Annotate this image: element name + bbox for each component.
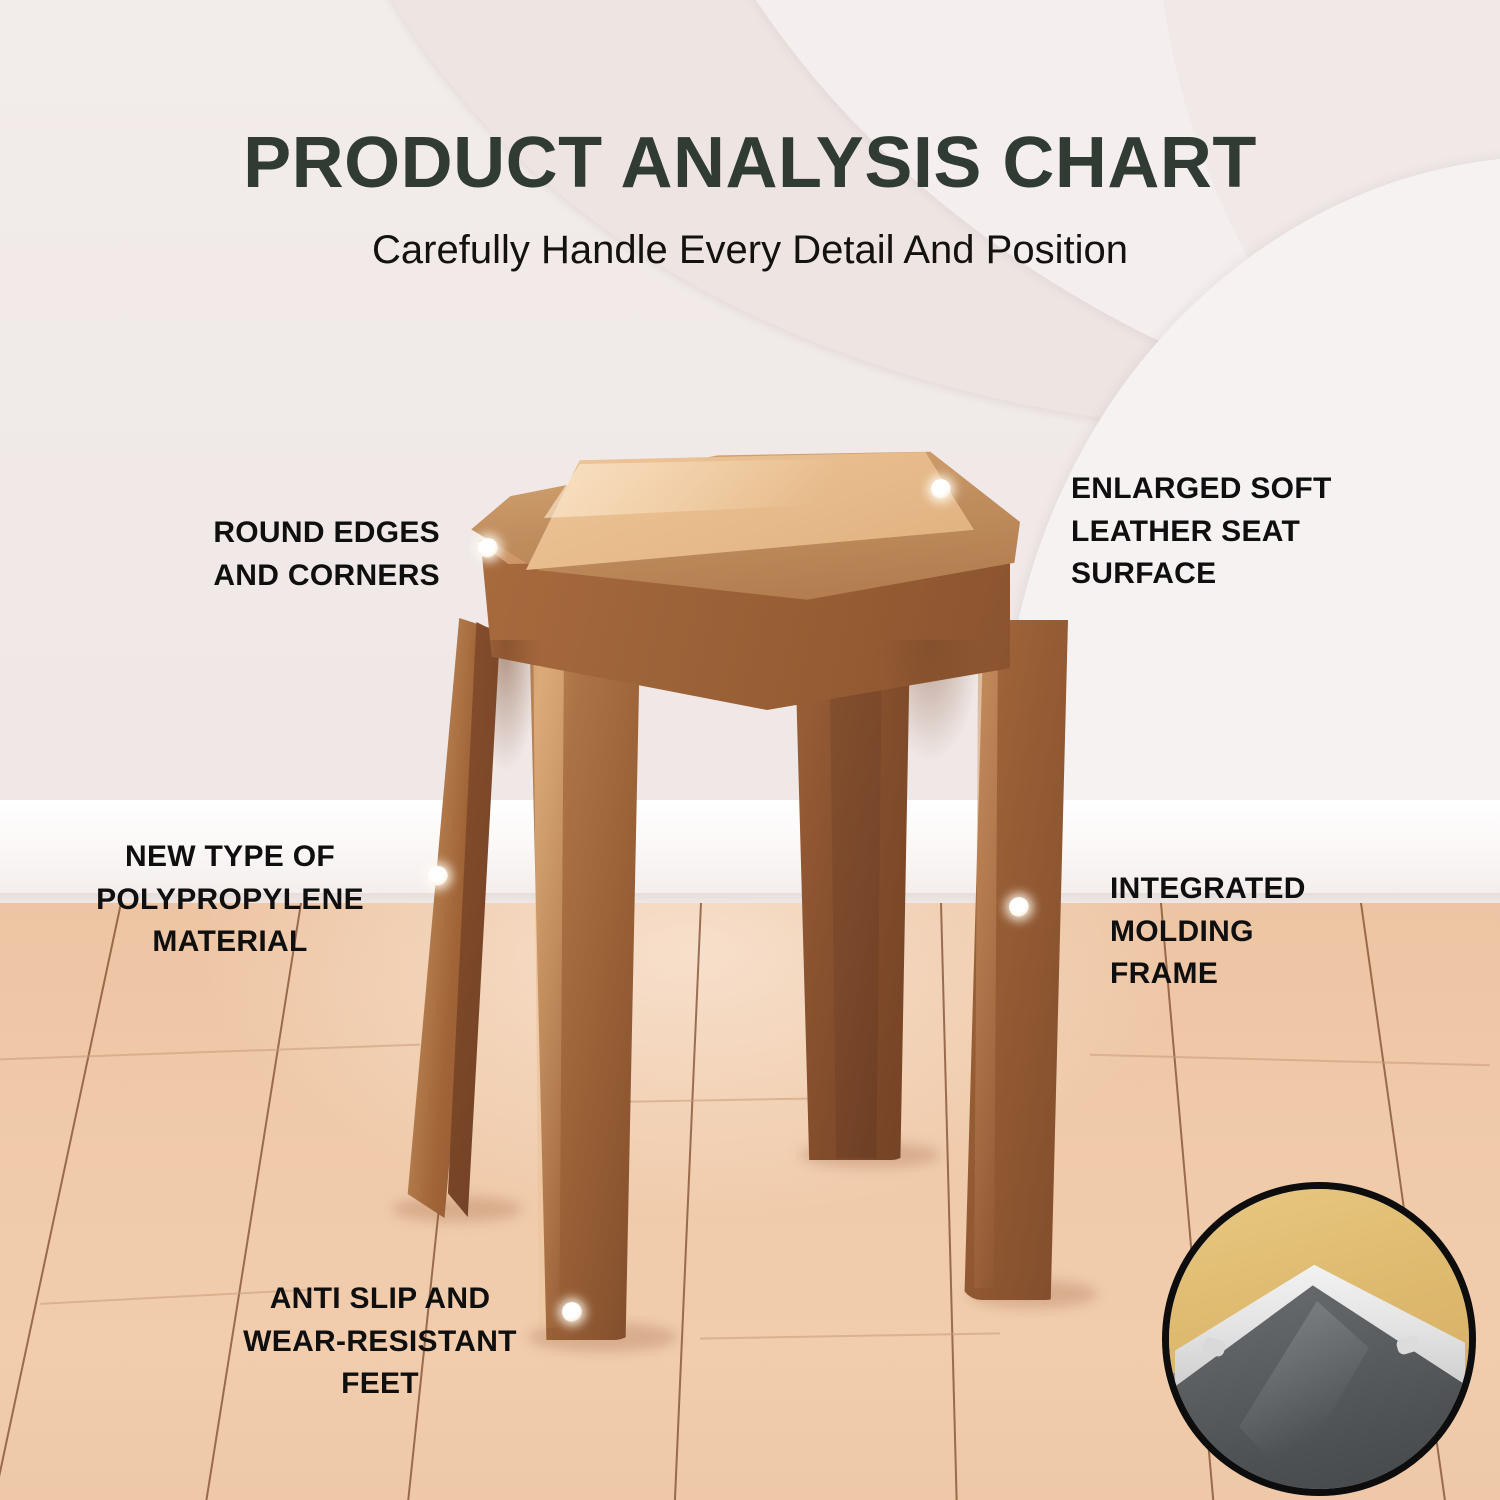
marker-dot-round-edges (478, 538, 498, 558)
marker-dot-leather-seat (931, 479, 951, 499)
callout-line: SURFACE (1071, 553, 1411, 596)
callout-line: NEW TYPE OF (65, 836, 395, 879)
stool-arch-shadow-right (880, 640, 980, 760)
callout-line: FEET (210, 1363, 550, 1406)
callout-line: LEATHER SEAT (1071, 511, 1411, 554)
callout-label-polypropylene: NEW TYPE OF POLYPROPYLENE MATERIAL (65, 836, 395, 964)
callout-line: INTEGRATED (1110, 868, 1410, 911)
callout-line: ENLARGED SOFT (1071, 468, 1411, 511)
stool-leg-front-left-highlight (530, 648, 564, 1328)
infographic-canvas: PRODUCT ANALYSIS CHART Carefully Handle … (0, 0, 1500, 1500)
detail-closeup-circle (1162, 1182, 1476, 1496)
callout-line: MOLDING (1110, 911, 1410, 954)
marker-dot-anti-slip-feet (562, 1302, 582, 1322)
callout-label-round-edges: ROUND EDGES AND CORNERS (130, 512, 440, 597)
page-title: PRODUCT ANALYSIS CHART (0, 122, 1500, 204)
callout-line: WEAR-RESISTANT (210, 1321, 550, 1364)
marker-dot-molding-frame (1009, 897, 1029, 917)
marker-dot-polypropylene (428, 866, 448, 886)
callout-label-molding-frame: INTEGRATED MOLDING FRAME (1110, 868, 1410, 996)
page-subtitle: Carefully Handle Every Detail And Positi… (0, 228, 1500, 273)
callout-line: MATERIAL (65, 921, 395, 964)
callout-line: POLYPROPYLENE (65, 879, 395, 922)
callout-label-anti-slip-feet: ANTI SLIP AND WEAR-RESISTANT FEET (210, 1278, 550, 1406)
callout-line: AND CORNERS (130, 555, 440, 598)
callout-line: ROUND EDGES (130, 512, 440, 555)
callout-label-leather-seat: ENLARGED SOFT LEATHER SEAT SURFACE (1071, 468, 1411, 596)
callout-line: ANTI SLIP AND (210, 1278, 550, 1321)
callout-line: FRAME (1110, 953, 1410, 996)
stool-arch-shadow-left (470, 640, 540, 770)
